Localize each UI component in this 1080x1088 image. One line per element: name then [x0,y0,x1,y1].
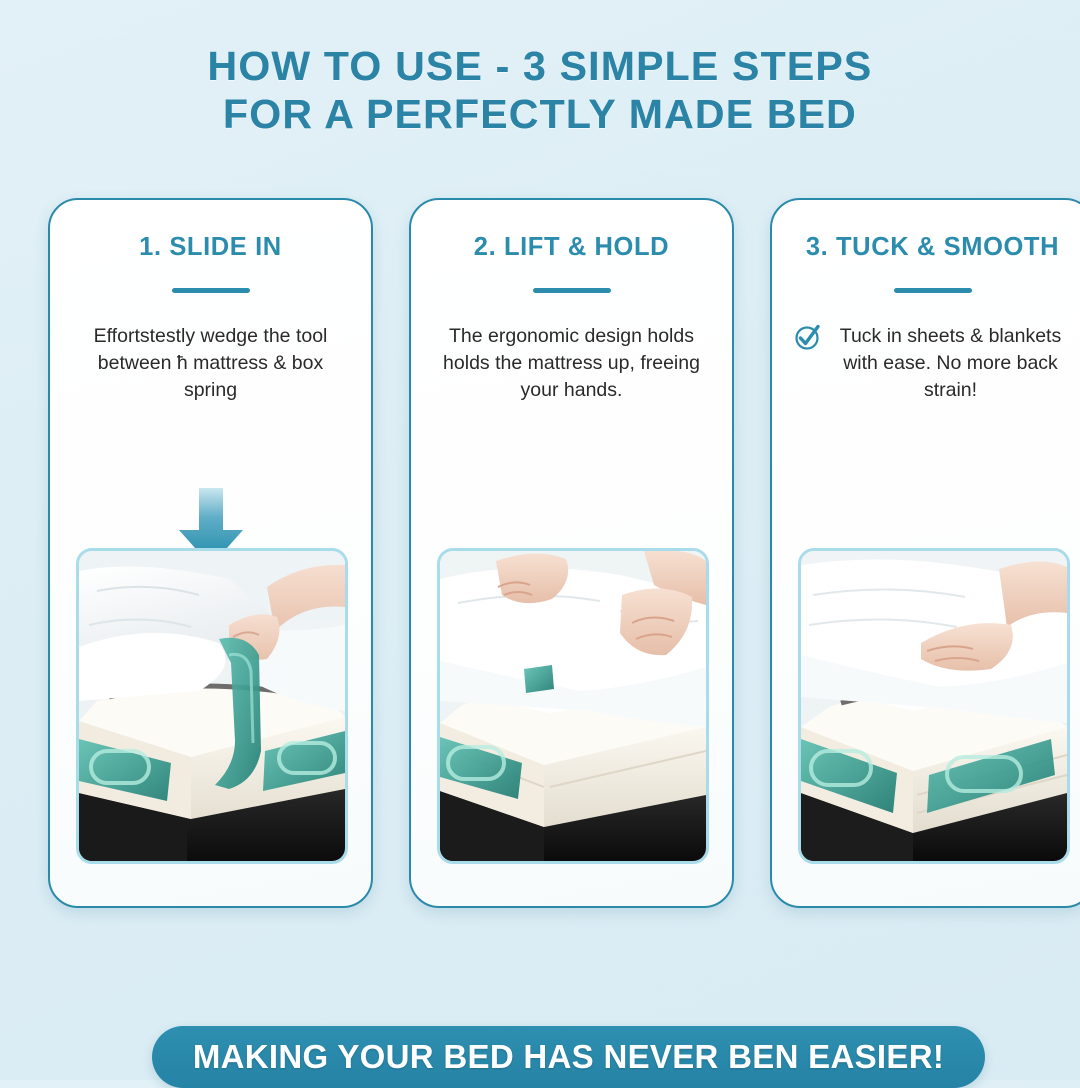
check-circle-icon [794,324,821,359]
step-2-body: The ergonomic design holds holds the mat… [411,323,732,404]
mattress-slide-in-image [79,551,345,861]
step-1-photo [76,548,348,864]
title-line-1: HOW TO USE - 3 SIMPLE STEPS [0,42,1080,90]
step-3-body: Tuck in sheets & blankets with ease. No … [772,323,1080,404]
step-card-2[interactable]: 2. LIFT & HOLD The ergonomic design hold… [409,198,734,908]
step-1-divider [172,288,250,293]
steps-container: 1. SLIDE IN Effortstestly wedge the tool… [48,198,1080,910]
step-card-1[interactable]: 1. SLIDE IN Effortstestly wedge the tool… [48,198,373,908]
step-2-heading: 2. LIFT & HOLD [411,233,732,262]
title-line-2: FOR A PERFECTLY MADE BED [0,90,1080,138]
step-2-body-text: The ergonomic design holds holds the mat… [443,325,700,401]
step-3-divider [894,288,972,293]
step-3-body-text: Tuck in sheets & blankets with ease. No … [830,323,1071,404]
step-card-3[interactable]: 3. TUCK & SMOOTH Tuck in sheets & blanke… [770,198,1080,908]
mattress-tuck-smooth-image [801,551,1067,861]
page-title: HOW TO USE - 3 SIMPLE STEPS FOR A PERFEC… [0,42,1080,138]
bottom-banner[interactable]: MAKING YOUR BED HAS NEVER BEN EASIER! [152,1026,985,1088]
step-2-photo [437,548,709,864]
banner-text: MAKING YOUR BED HAS NEVER BEN EASIER! [193,1038,944,1076]
step-1-body: Effortstestly wedge the tool between ħ m… [50,323,371,404]
mattress-lift-hold-image [440,551,706,861]
step-1-heading: 1. SLIDE IN [50,233,371,262]
step-1-body-text: Effortstestly wedge the tool between ħ m… [94,325,328,401]
step-2-divider [533,288,611,293]
step-3-heading: 3. TUCK & SMOOTH [772,233,1080,262]
step-3-photo [798,548,1070,864]
